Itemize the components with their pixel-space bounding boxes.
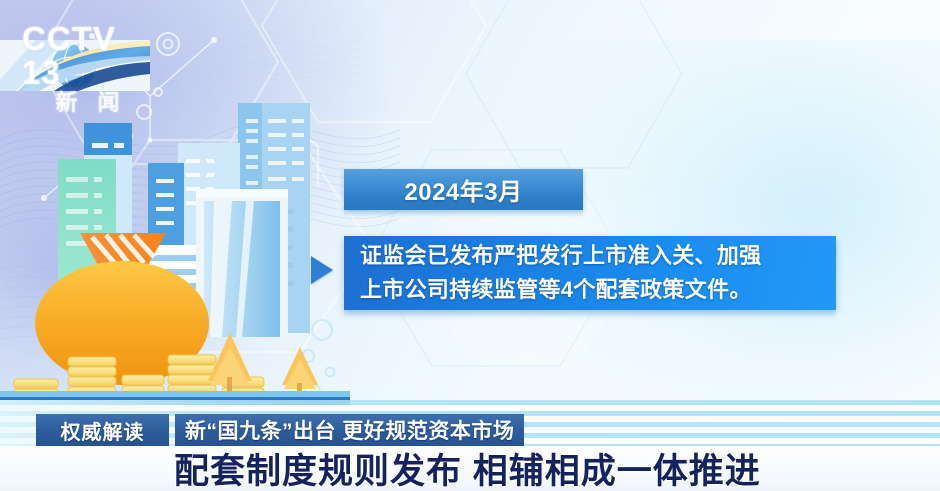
lower-third-headline-label: 配套制度规则发布 相辅相成一体推进 — [174, 443, 761, 491]
lower-third-kicker-badge: 权威解读 — [36, 414, 169, 446]
callout-body-box: 证监会已发布严把发行上市准入关、加强 上市公司持续监管等4个配套政策文件。 — [344, 236, 836, 310]
callout-date-box: 2024年3月 — [344, 169, 583, 210]
callout-body-line-2: 上市公司持续监管等4个配套政策文件。 — [360, 273, 824, 307]
callout-date-label: 2024年3月 — [404, 172, 522, 207]
lower-third-subhead-label: 新“国九条”出台 更好规范资本市场 — [185, 415, 514, 445]
cctv-news-globe-logo — [0, 40, 150, 91]
callout-arrow-icon — [311, 256, 333, 284]
lower-third-kicker-label: 权威解读 — [61, 416, 145, 445]
glass-tower — [196, 189, 293, 337]
broadcast-frame: 2024年3月 证监会已发布严把发行上市准入关、加强 上市公司持续监管等4个配套… — [0, 0, 940, 491]
city-skyline-illustration — [0, 85, 350, 405]
callout-body-line-1: 证监会已发布严把发行上市准入关、加强 — [360, 239, 824, 273]
lower-third-subhead-bar: 新“国九条”出台 更好规范资本市场 — [175, 414, 524, 446]
lower-third-headline: 配套制度规则发布 相辅相成一体推进 — [174, 446, 761, 490]
